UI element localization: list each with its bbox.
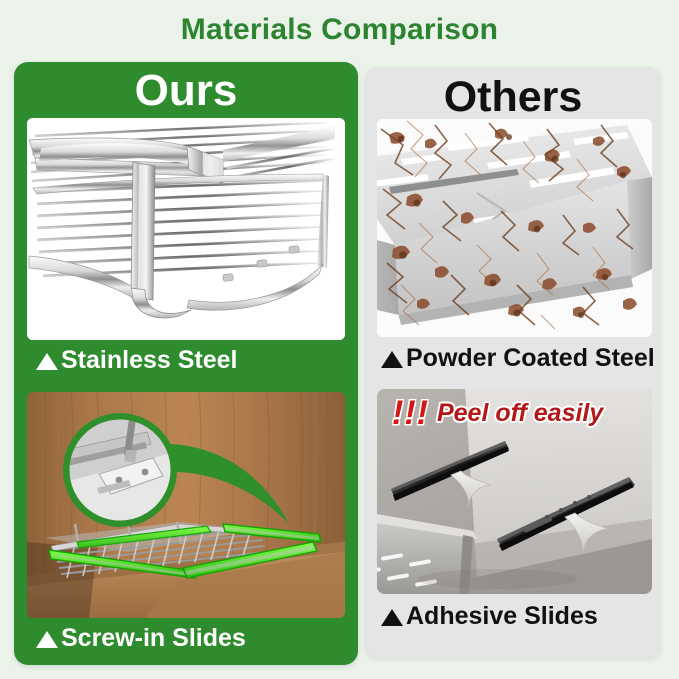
ours-heading: Ours bbox=[14, 69, 358, 113]
comparison-infographic: Materials Comparison Ours bbox=[0, 0, 679, 679]
triangle-up-icon bbox=[381, 351, 403, 368]
rack-svg bbox=[27, 118, 345, 340]
rusted-powder-coated-shelf-photo bbox=[377, 119, 652, 337]
rusty-shelf-illustration bbox=[377, 119, 652, 337]
cabinet-svg bbox=[27, 392, 345, 618]
rusty-shelf-svg bbox=[377, 119, 652, 337]
caption-text: Adhesive Slides bbox=[406, 604, 598, 629]
caption-text: Screw-in Slides bbox=[61, 626, 246, 651]
caption-text: Powder Coated Steel bbox=[406, 346, 655, 371]
caption-adhesive-slides: Adhesive Slides bbox=[381, 604, 598, 629]
rack-illustration bbox=[27, 118, 345, 340]
triangle-up-icon bbox=[36, 631, 58, 648]
page-title: Materials Comparison bbox=[0, 13, 679, 47]
stainless-steel-wire-rack-photo bbox=[27, 118, 345, 340]
caption-text: Stainless Steel bbox=[61, 348, 237, 373]
caption-powder-coated-steel: Powder Coated Steel bbox=[381, 346, 655, 371]
others-heading: Others bbox=[365, 76, 661, 119]
adhesive-slides-illustration bbox=[377, 389, 652, 594]
wood-cabinet-illustration bbox=[27, 392, 345, 618]
adhesive-slides-photo bbox=[377, 389, 652, 594]
triangle-up-icon bbox=[36, 353, 58, 370]
screw-in-slides-photo bbox=[27, 392, 345, 618]
adhesive-slides-svg bbox=[377, 389, 652, 594]
caption-stainless-steel: Stainless Steel bbox=[36, 348, 237, 373]
triangle-up-icon bbox=[381, 609, 403, 626]
caption-screw-in-slides: Screw-in Slides bbox=[36, 626, 246, 651]
